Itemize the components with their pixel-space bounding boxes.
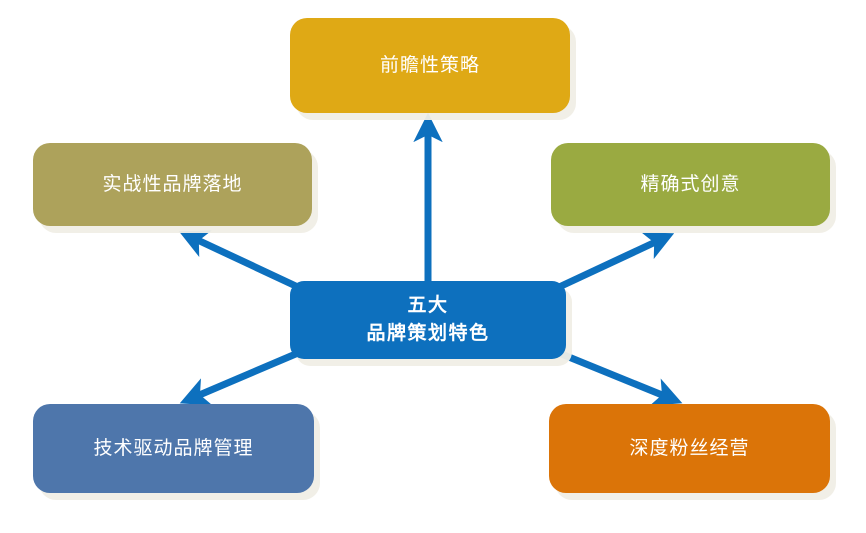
node-label-center: 五大 品牌策划特色 bbox=[366, 292, 489, 347]
node-center-hub[interactable]: 五大 品牌策划特色 bbox=[290, 281, 566, 359]
arrow-center-to-upper-left bbox=[189, 236, 300, 288]
node-label-top: 前瞻性策略 bbox=[380, 54, 480, 78]
arrow-center-to-upper-right bbox=[557, 238, 664, 288]
node-precise-creativity[interactable]: 精确式创意 bbox=[551, 143, 830, 226]
node-label-lower-right: 深度粉丝经营 bbox=[629, 437, 749, 461]
node-label-upper-right: 精确式创意 bbox=[640, 173, 740, 197]
node-label-upper-left: 实战性品牌落地 bbox=[102, 173, 242, 197]
node-forward-looking-strategy[interactable]: 前瞻性策略 bbox=[290, 18, 570, 113]
node-technology-driven-brand-management[interactable]: 技术驱动品牌管理 bbox=[33, 404, 314, 493]
arrow-center-to-lower-right bbox=[559, 353, 672, 399]
node-label-lower-left: 技术驱动品牌管理 bbox=[93, 437, 253, 461]
diagram-canvas: 前瞻性策略 实战性品牌落地 精确式创意 五大 品牌策划特色 技术驱动品牌管理 深… bbox=[0, 0, 866, 533]
node-practical-brand-landing[interactable]: 实战性品牌落地 bbox=[33, 143, 312, 226]
node-deep-fan-operation[interactable]: 深度粉丝经营 bbox=[549, 404, 830, 493]
arrow-center-to-lower-left bbox=[190, 353, 298, 399]
